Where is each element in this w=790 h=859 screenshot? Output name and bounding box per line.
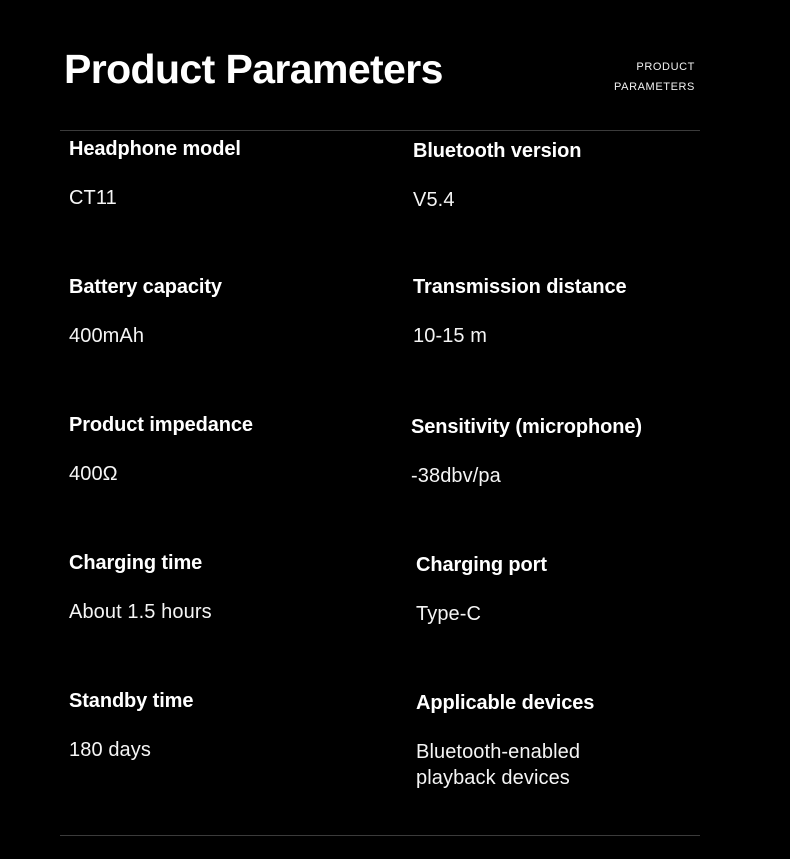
divider-bottom xyxy=(60,835,700,836)
spec-label: Bluetooth version xyxy=(413,138,763,164)
product-parameters-page: Product Parameters PRODUCT PARAMETERS He… xyxy=(0,0,790,859)
header-caption-line1: PRODUCT xyxy=(535,57,695,77)
spec-label: Charging port xyxy=(416,552,766,578)
spec-item-charging-time: Charging time About 1.5 hours xyxy=(69,550,399,625)
spec-label: Sensitivity (microphone) xyxy=(411,414,761,440)
spec-item-transmission-distance: Transmission distance 10-15 m xyxy=(413,274,763,349)
spec-label: Transmission distance xyxy=(413,274,763,300)
page-header: Product Parameters PRODUCT PARAMETERS xyxy=(0,0,790,136)
spec-label: Applicable devices xyxy=(416,690,766,716)
header-caption: PRODUCT PARAMETERS xyxy=(535,57,695,97)
spec-row: Product impedance 400Ω Sensitivity (micr… xyxy=(0,412,790,550)
spec-label: Product impedance xyxy=(69,412,399,438)
header-caption-line2: PARAMETERS xyxy=(535,77,695,97)
spec-value: 180 days xyxy=(69,737,399,763)
page-title: Product Parameters xyxy=(64,45,443,93)
spec-value: Bluetooth-enabled playback devices xyxy=(416,739,766,791)
spec-label: Charging time xyxy=(69,550,399,576)
spec-item-bluetooth-version: Bluetooth version V5.4 xyxy=(413,138,763,213)
spec-value: 10-15 m xyxy=(413,323,763,349)
spec-value: -38dbv/pa xyxy=(411,463,761,489)
spec-label: Battery capacity xyxy=(69,274,399,300)
spec-row: Standby time 180 days Applicable devices… xyxy=(0,688,790,826)
spec-item-standby-time: Standby time 180 days xyxy=(69,688,399,763)
spec-grid: Headphone model CT11 Bluetooth version V… xyxy=(0,136,790,826)
spec-item-sensitivity: Sensitivity (microphone) -38dbv/pa xyxy=(411,414,761,489)
spec-label: Standby time xyxy=(69,688,399,714)
spec-item-applicable-devices: Applicable devices Bluetooth-enabled pla… xyxy=(416,690,766,791)
spec-label: Headphone model xyxy=(69,136,399,162)
spec-value: About 1.5 hours xyxy=(69,599,399,625)
spec-row: Charging time About 1.5 hours Charging p… xyxy=(0,550,790,688)
spec-item-charging-port: Charging port Type-C xyxy=(416,552,766,627)
spec-value: CT11 xyxy=(69,185,399,211)
spec-value: 400Ω xyxy=(69,461,399,487)
spec-value: 400mAh xyxy=(69,323,399,349)
spec-item-headphone-model: Headphone model CT11 xyxy=(69,136,399,211)
spec-item-product-impedance: Product impedance 400Ω xyxy=(69,412,399,487)
spec-row: Battery capacity 400mAh Transmission dis… xyxy=(0,274,790,412)
divider-top xyxy=(60,130,700,131)
spec-item-battery-capacity: Battery capacity 400mAh xyxy=(69,274,399,349)
spec-value: V5.4 xyxy=(413,187,763,213)
spec-value: Type-C xyxy=(416,601,766,627)
spec-row: Headphone model CT11 Bluetooth version V… xyxy=(0,136,790,274)
